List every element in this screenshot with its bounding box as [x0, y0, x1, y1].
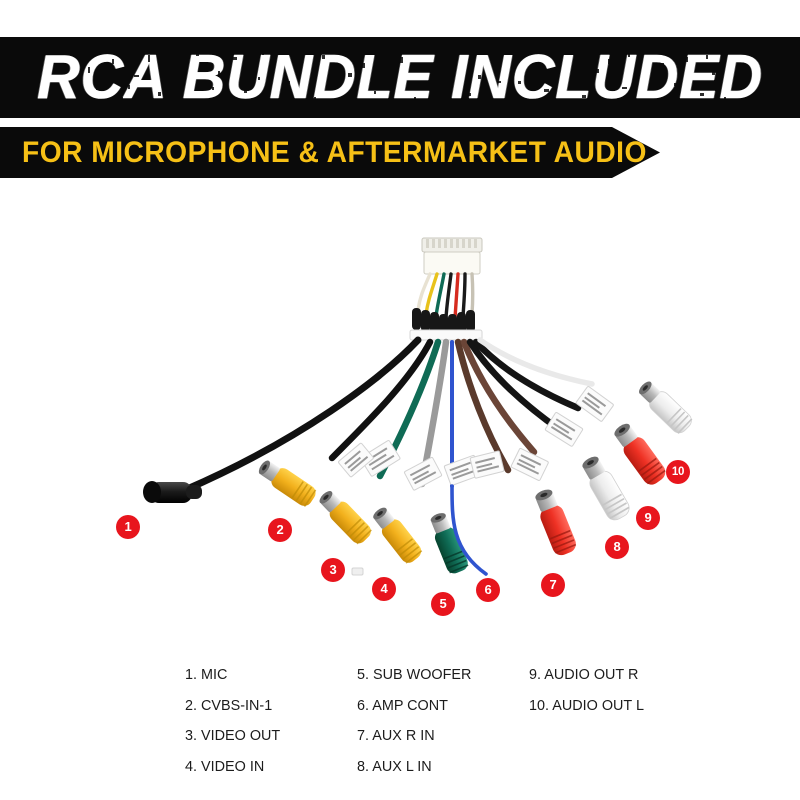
callout-badge-9: 9 [636, 506, 660, 530]
legend-column-2: 5. SUB WOOFER 6. AMP CONT 7. AUX R IN 8.… [357, 660, 529, 782]
legend-item: 6. AMP CONT [357, 691, 522, 722]
legend-item: 3. VIDEO OUT [185, 721, 350, 752]
rca-connector-10 [635, 377, 695, 436]
callout-badge-8: 8 [605, 535, 629, 559]
rca-connector-5 [427, 510, 471, 576]
headline-banner: RCA BUNDLE INCLUDED [0, 37, 800, 118]
callout-badge-1: 1 [116, 515, 140, 539]
connector-plug [422, 238, 482, 274]
rca-connector-3 [315, 487, 374, 547]
callout-badge-10: 10 [666, 460, 690, 484]
callout-badge-6: 6 [476, 578, 500, 602]
rca-connector-4 [369, 504, 425, 566]
legend-column-3: 9. AUDIO OUT R 10. AUDIO OUT L [529, 660, 649, 782]
callout-badge-2: 2 [268, 518, 292, 542]
legend-item: 4. VIDEO IN [185, 752, 350, 783]
rca-connector-9 [610, 419, 669, 488]
callout-badge-3: 3 [321, 558, 345, 582]
rca-connector-7 [531, 486, 579, 558]
callout-badge-4: 4 [372, 577, 396, 601]
rca-connector-2 [255, 456, 319, 509]
legend-item: 8. AUX L IN [357, 752, 522, 783]
subhead-banner: FOR MICROPHONE & AFTERMARKET AUDIO [0, 127, 660, 178]
legend-item: 7. AUX R IN [357, 721, 522, 752]
legend-item: 5. SUB WOOFER [357, 660, 522, 691]
legend-column-1: 1. MIC 2. CVBS-IN-1 3. VIDEO OUT 4. VIDE… [185, 660, 357, 782]
product-photo [0, 190, 800, 640]
harness-illustration [0, 190, 800, 640]
callout-badge-7: 7 [541, 573, 565, 597]
loose-clip [352, 568, 363, 575]
headline-text: RCA BUNDLE INCLUDED [37, 47, 763, 109]
legend-item: 2. CVBS-IN-1 [185, 691, 350, 722]
legend-item: 10. AUDIO OUT L [529, 691, 644, 722]
legend-item: 1. MIC [185, 660, 350, 691]
subhead-banner-shape: FOR MICROPHONE & AFTERMARKET AUDIO [0, 127, 660, 178]
legend-item: 9. AUDIO OUT R [529, 660, 644, 691]
product-infographic: RCA BUNDLE INCLUDED [0, 0, 800, 800]
rca-connector-8 [578, 453, 633, 523]
callout-badge-5: 5 [431, 592, 455, 616]
subhead-text: FOR MICROPHONE & AFTERMARKET AUDIO [22, 138, 647, 168]
legend: 1. MIC 2. CVBS-IN-1 3. VIDEO OUT 4. VIDE… [185, 660, 745, 782]
